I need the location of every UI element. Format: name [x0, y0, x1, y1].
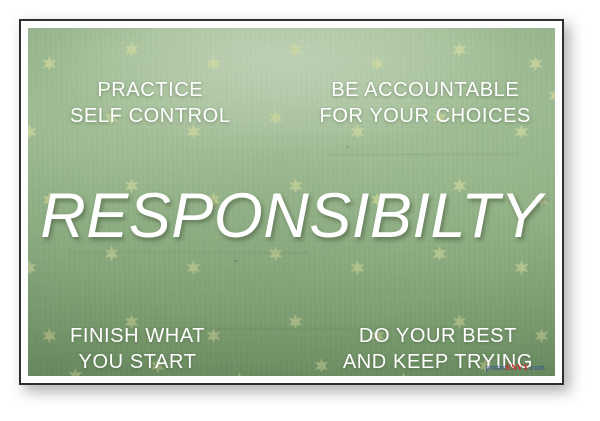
quote-bottom-left-line2: YOU START [70, 350, 205, 376]
posterenvy-watermark[interactable]: posterENVY.com [486, 364, 545, 372]
quote-top-left-line1: PRACTICE [70, 78, 231, 104]
poster-artwork: PRACTICE SELF CONTROL BE ACCOUNTABLE FOR… [28, 28, 555, 376]
quote-bottom-right-line1: DO YOUR BEST [343, 324, 533, 350]
watermark-com: .com [529, 363, 545, 372]
poster-page: PRACTICE SELF CONTROL BE ACCOUNTABLE FOR… [0, 0, 600, 421]
watermark-envy: ENVY [506, 363, 529, 372]
quote-bottom-left: FINISH WHAT YOU START [70, 324, 205, 375]
poster-mat: PRACTICE SELF CONTROL BE ACCOUNTABLE FOR… [21, 21, 562, 383]
quote-top-right: BE ACCOUNTABLE FOR YOUR CHOICES [320, 78, 531, 129]
quote-top-right-line1: BE ACCOUNTABLE [320, 78, 531, 104]
poster-headline: RESPONSIBILTY [28, 185, 555, 248]
watermark-poster: poster [486, 363, 506, 372]
quote-top-right-line2: FOR YOUR CHOICES [320, 104, 531, 130]
poster-frame: PRACTICE SELF CONTROL BE ACCOUNTABLE FOR… [19, 19, 564, 385]
quote-top-left-line2: SELF CONTROL [70, 104, 231, 130]
quote-top-left: PRACTICE SELF CONTROL [70, 78, 231, 129]
quote-bottom-left-line1: FINISH WHAT [70, 324, 205, 350]
poster-content: PRACTICE SELF CONTROL BE ACCOUNTABLE FOR… [28, 28, 555, 376]
